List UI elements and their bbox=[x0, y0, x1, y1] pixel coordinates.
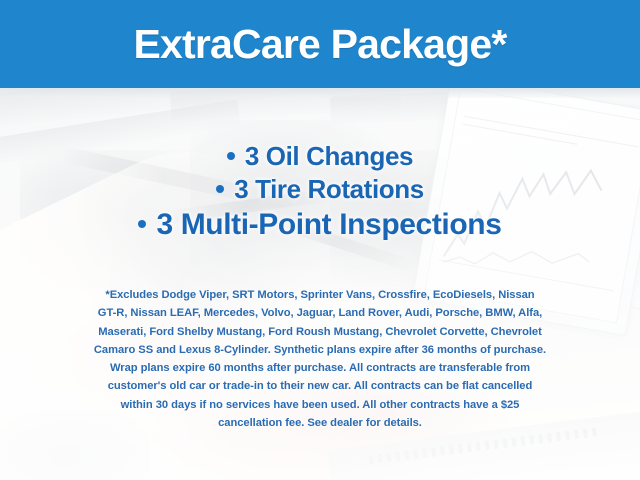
bullet-dot-icon bbox=[138, 220, 146, 228]
list-item: 3 Tire Rotations bbox=[0, 172, 640, 206]
disclaimer: *Excludes Dodge Viper, SRT Motors, Sprin… bbox=[26, 286, 614, 432]
offer-label: 3 Tire Rotations bbox=[234, 174, 424, 204]
disclaimer-line: Wrap plans expire 60 months after purcha… bbox=[26, 359, 614, 377]
offer-list: 3 Oil Changes 3 Tire Rotations 3 Multi-P… bbox=[0, 140, 640, 244]
offer-label: 3 Oil Changes bbox=[245, 141, 413, 171]
disclaimer-line: Maserati, Ford Shelby Mustang, Ford Rous… bbox=[26, 323, 614, 341]
bullet-dot-icon bbox=[216, 185, 224, 193]
disclaimer-line: *Excludes Dodge Viper, SRT Motors, Sprin… bbox=[26, 286, 614, 304]
disclaimer-line: Camaro SS and Lexus 8-Cylinder. Syntheti… bbox=[26, 341, 614, 359]
page-title: ExtraCare Package* bbox=[133, 24, 506, 65]
disclaimer-line: within 30 days if no services have been … bbox=[26, 396, 614, 414]
disclaimer-line: GT-R, Nissan LEAF, Mercedes, Volvo, Jagu… bbox=[26, 304, 614, 322]
bullet-dot-icon bbox=[227, 152, 235, 160]
disclaimer-line: customer's old car or trade-in to their … bbox=[26, 377, 614, 395]
list-item: 3 Oil Changes bbox=[0, 140, 640, 172]
offer-label: 3 Multi-Point Inspections bbox=[156, 208, 501, 241]
extracare-package-ad: ExtraCare Package* 3 Oil Changes 3 Tire … bbox=[0, 0, 640, 480]
list-item: 3 Multi-Point Inspections bbox=[0, 206, 640, 244]
disclaimer-line: cancellation fee. See dealer for details… bbox=[26, 414, 614, 432]
header-banner: ExtraCare Package* bbox=[0, 0, 640, 88]
header-underline-band bbox=[0, 88, 640, 98]
